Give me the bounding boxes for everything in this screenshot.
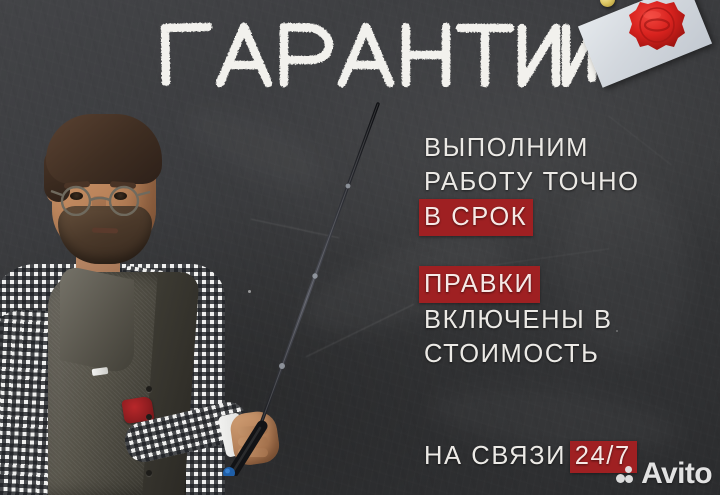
benefit-line: РАБОТУ ТОЧНО bbox=[424, 165, 704, 199]
benefit-line: В СРОК bbox=[424, 199, 704, 236]
wax-seal-icon bbox=[628, 0, 686, 58]
pushpin-icon bbox=[600, 0, 615, 7]
poster-canvas: ВЫПОЛНИМ РАБОТУ ТОЧНО В СРОК ПРАВКИ ВКЛЮ… bbox=[0, 0, 720, 495]
contact-tagline: НА СВЯЗИ 24/7 bbox=[424, 441, 637, 473]
copy-spacer bbox=[424, 236, 704, 266]
benefit-line: ВКЛЮЧЕНЫ В bbox=[424, 303, 704, 337]
pinned-card-group bbox=[578, 0, 720, 116]
vest-button bbox=[146, 386, 152, 392]
page-title bbox=[158, 18, 598, 90]
hair bbox=[46, 114, 162, 184]
benefit-line: ВЫПОЛНИМ bbox=[424, 131, 704, 165]
benefits-copy: ВЫПОЛНИМ РАБОТУ ТОЧНО В СРОК ПРАВКИ ВКЛЮ… bbox=[424, 131, 704, 371]
vest-button bbox=[146, 470, 152, 476]
highlight-badge: ПРАВКИ bbox=[419, 266, 540, 303]
benefit-block-1: ВЫПОЛНИМ РАБОТУ ТОЧНО В СРОК bbox=[424, 131, 704, 236]
glasses-icon bbox=[50, 182, 160, 216]
benefit-line: ПРАВКИ bbox=[424, 266, 704, 303]
avito-wordmark: Avito bbox=[641, 459, 712, 489]
avito-dots-icon bbox=[616, 466, 638, 483]
highlight-badge: В СРОК bbox=[419, 199, 533, 236]
mouth bbox=[92, 228, 118, 234]
pointer-stick bbox=[220, 96, 410, 476]
benefit-block-2: ПРАВКИ ВКЛЮЧЕНЫ В СТОИМОСТЬ bbox=[424, 266, 704, 371]
vest-lapel bbox=[60, 264, 134, 376]
avito-watermark: Avito bbox=[616, 459, 712, 489]
tagline-text: НА СВЯЗИ bbox=[424, 442, 566, 470]
benefit-line: СТОИМОСТЬ bbox=[424, 337, 704, 371]
